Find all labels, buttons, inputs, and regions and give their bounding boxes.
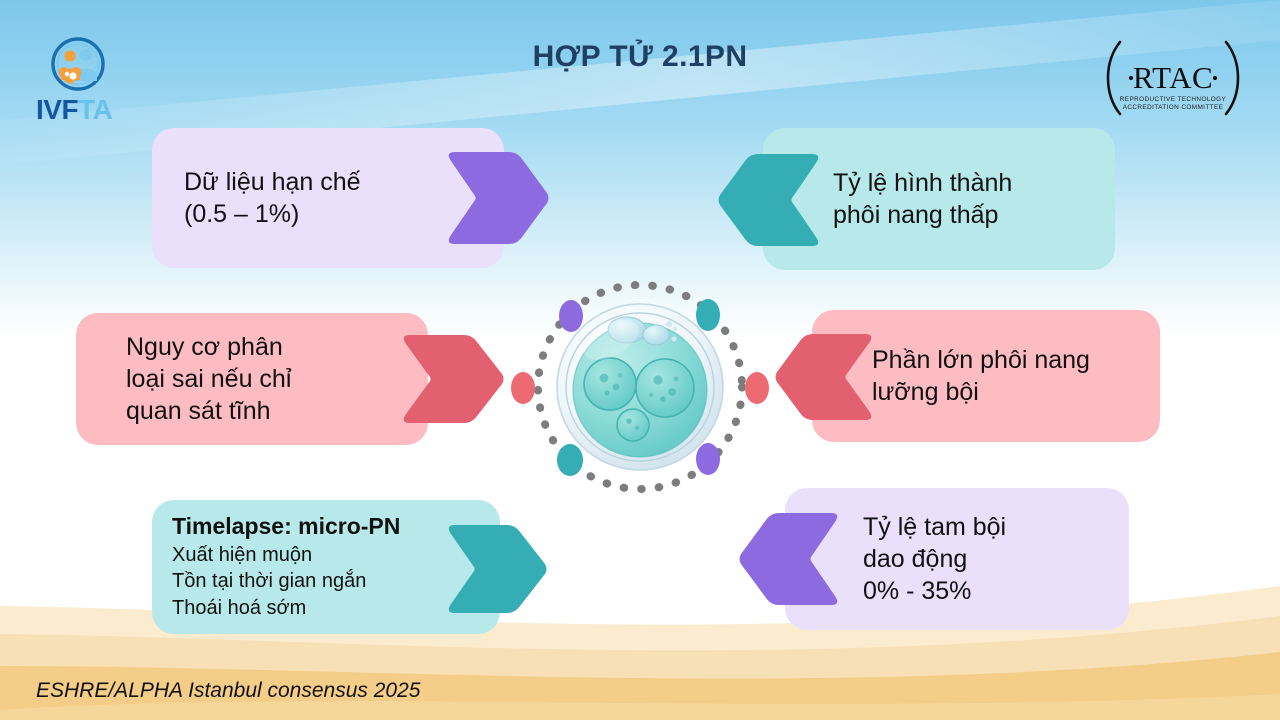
rtac-subtitle-line2: ACCREDITATION COMMITTEE	[1123, 104, 1224, 111]
chevron-icon	[398, 331, 506, 427]
perivitelline-bubble-1	[666, 321, 672, 327]
chevron-right-red-1	[398, 331, 506, 427]
perivitelline-bubble-2	[673, 327, 677, 331]
orbit-dot-top-left	[559, 300, 583, 332]
info-box-line: Tỷ lệ hình thành	[833, 167, 1115, 199]
chevron-icon	[443, 148, 551, 248]
source-citation: ESHRE/ALPHA Istanbul consensus 2025	[36, 679, 420, 703]
pronucleus-1	[584, 358, 636, 410]
rtac-logo: RTAC REPRODUCTIVE TECHNOLOGY ACCREDITATI…	[1098, 34, 1248, 122]
chevron-left-purple-2	[737, 509, 843, 609]
chevron-icon	[443, 521, 549, 617]
orbit-dot-top-right	[696, 299, 720, 331]
info-box-misclassification-risk[interactable]: Nguy cơ phân loại sai nếu chỉ quan sát t…	[76, 313, 428, 445]
info-box-line: lưỡng bội	[872, 376, 1160, 408]
info-box-line: Nguy cơ phân	[126, 331, 428, 363]
polar-body-2	[643, 325, 669, 345]
chevron-left-teal-1	[716, 150, 824, 250]
micro-pronucleus	[617, 409, 649, 441]
info-box-line: Tỷ lệ tam bội	[863, 511, 1129, 543]
orbit-dot-right	[745, 372, 769, 404]
orbit-dot-left	[511, 372, 535, 404]
page-title: HỢP TỬ 2.1PN	[0, 40, 1280, 74]
ivfta-logo-text-dark: IVF	[36, 94, 78, 125]
rtac-subtitle-line1: REPRODUCTIVE TECHNOLOGY	[1120, 96, 1227, 103]
info-box-line: dao động	[863, 543, 1129, 575]
info-box-line: 0% - 35%	[863, 575, 1129, 607]
chevron-right-teal-2	[443, 521, 549, 617]
ivfta-logo: IVFTA	[34, 36, 156, 124]
zygote-illustration	[510, 262, 770, 512]
info-box-line: quan sát tĩnh	[126, 395, 428, 427]
info-box-line: loại sai nếu chỉ	[126, 363, 428, 395]
chevron-icon	[737, 509, 843, 609]
perivitelline-bubble-3	[671, 336, 676, 341]
rtac-logo-svg: RTAC REPRODUCTIVE TECHNOLOGY ACCREDITATI…	[1098, 34, 1248, 122]
orbit-dot-bottom-left	[557, 444, 583, 476]
chevron-left-red-2	[773, 330, 877, 424]
orbit-dot-bottom-right	[696, 443, 720, 475]
pronucleus-2	[636, 359, 694, 417]
rtac-acronym-text: RTAC	[1133, 60, 1213, 95]
chevron-icon	[773, 330, 877, 424]
info-box-line: phôi nang thấp	[833, 199, 1115, 231]
chevron-icon	[716, 150, 824, 250]
chevron-right-purple-1	[443, 148, 551, 248]
info-box-line: Phần lớn phôi nang	[872, 344, 1160, 376]
zygote-svg	[510, 262, 770, 512]
ivfta-logo-text-light: TA	[78, 94, 112, 125]
